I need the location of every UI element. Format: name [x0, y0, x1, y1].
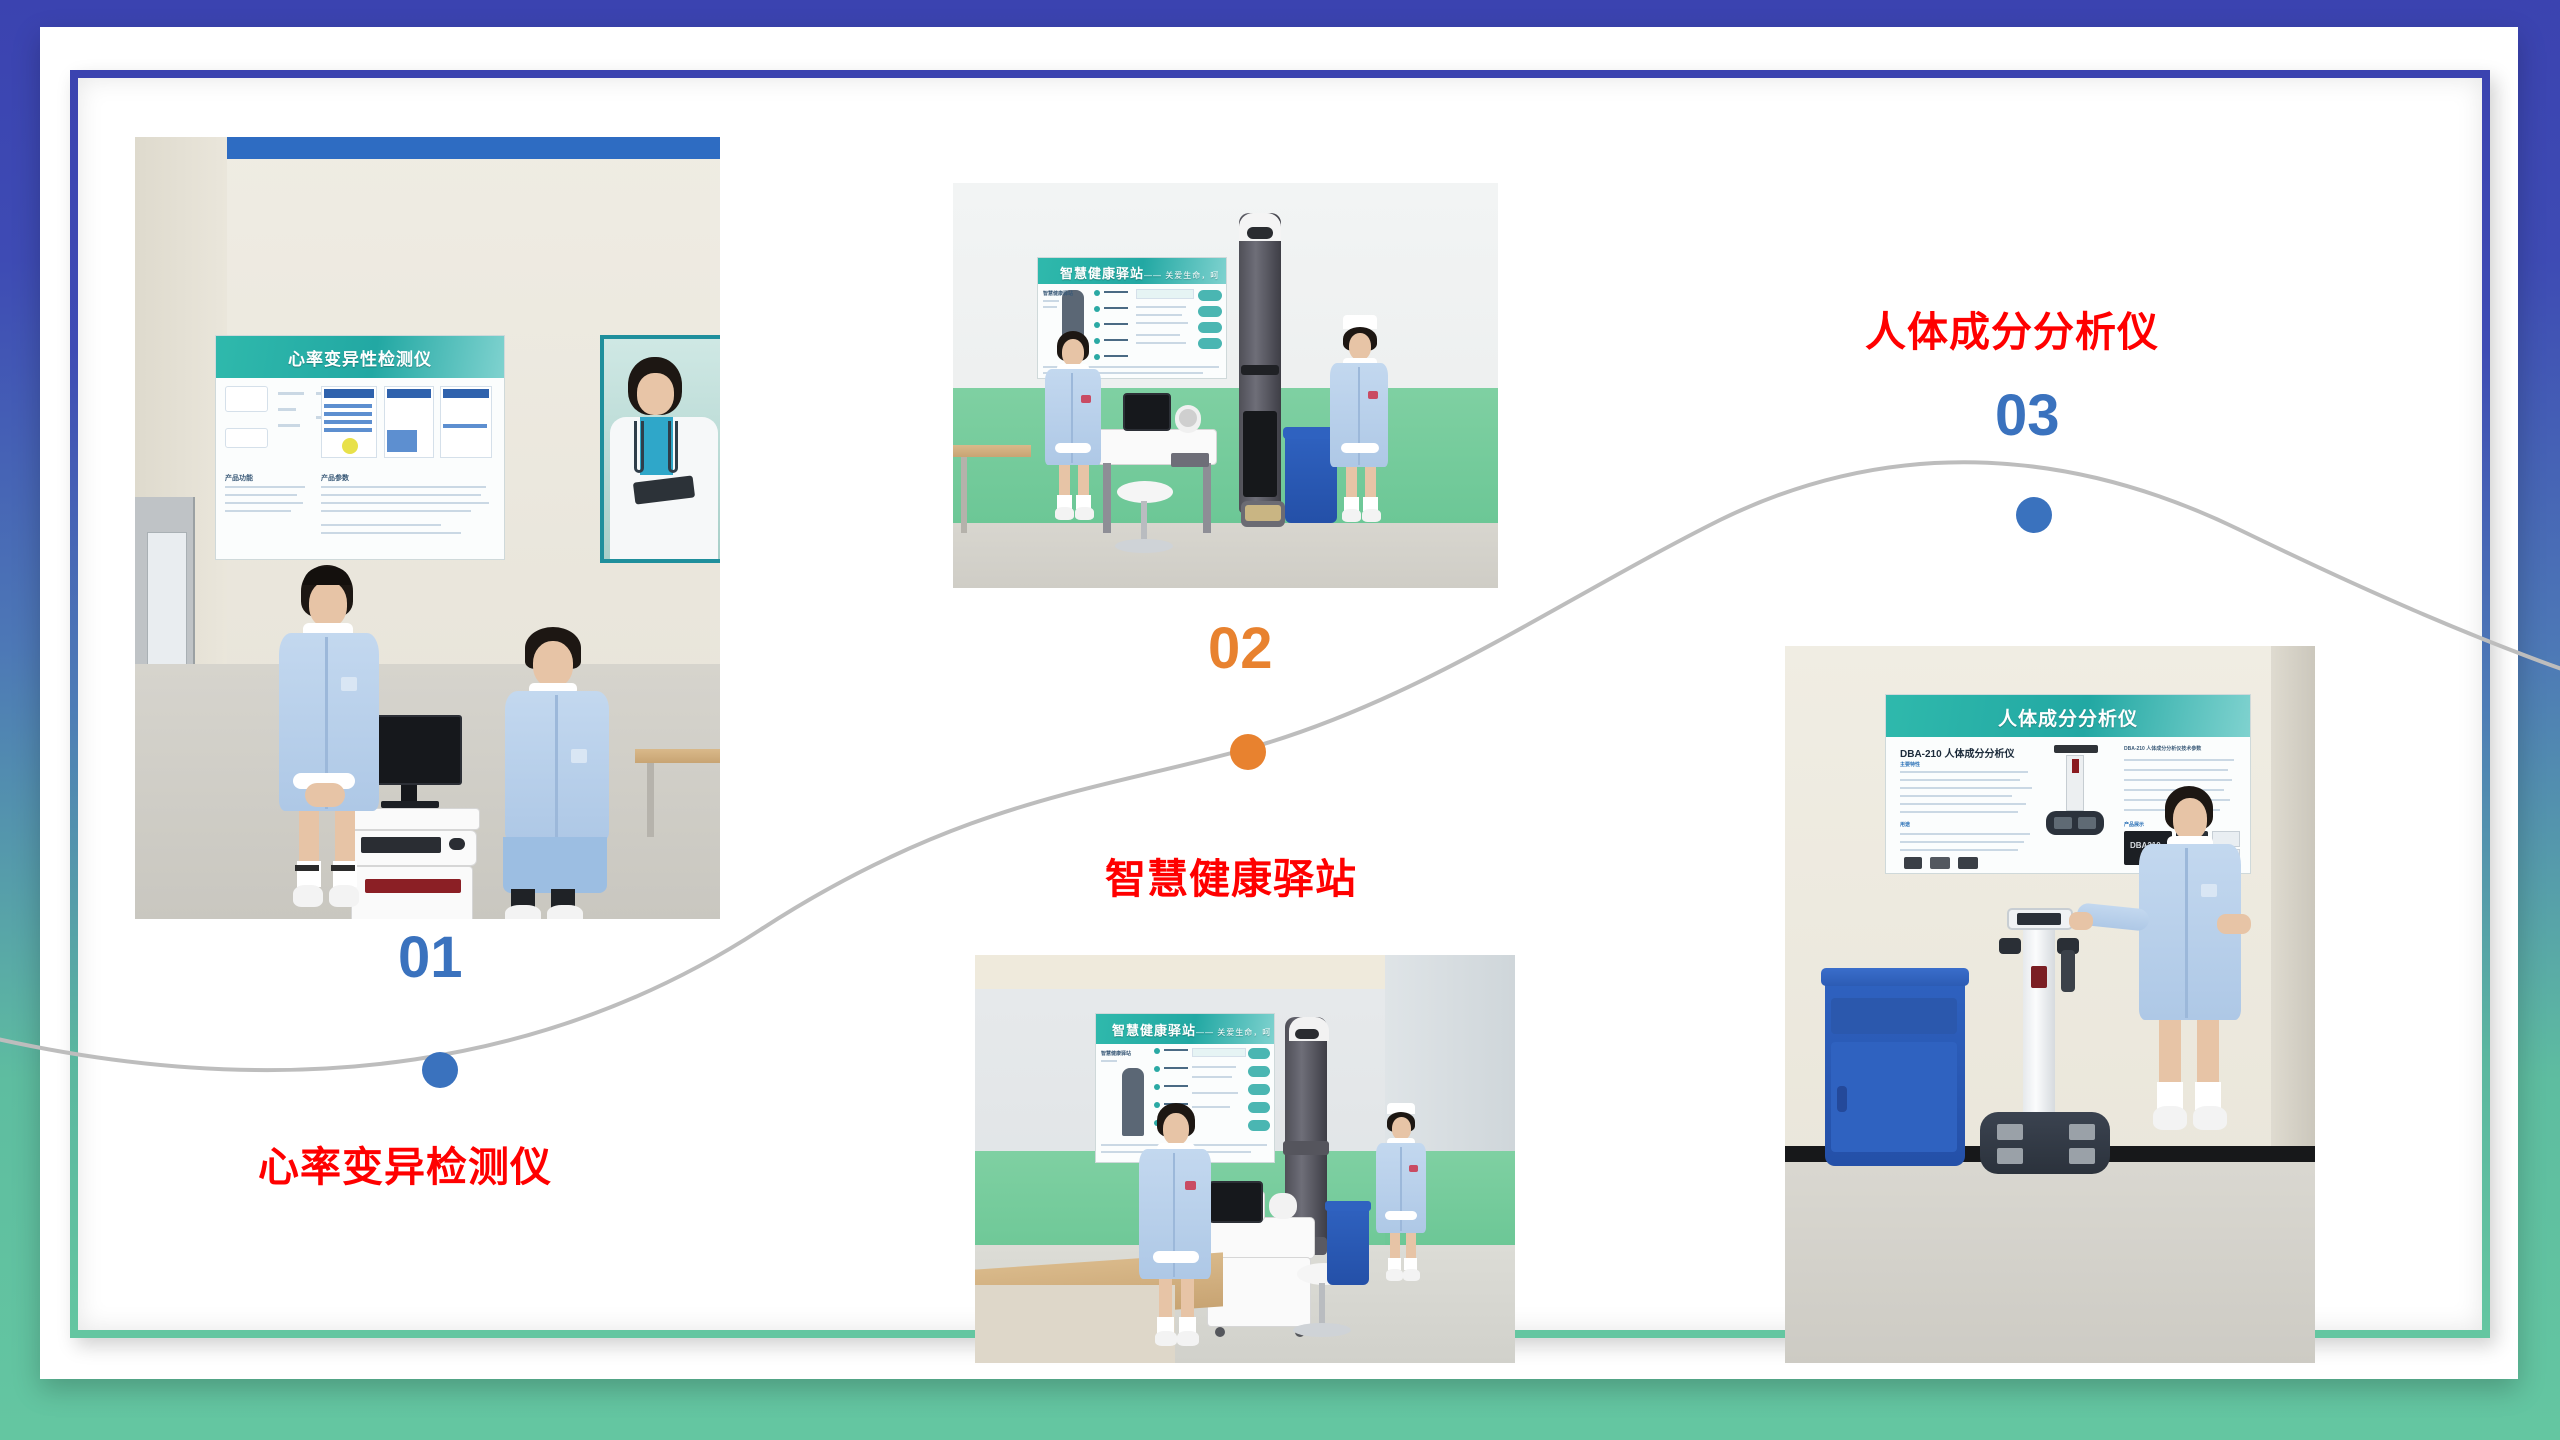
- timeline-dot-03[interactable]: [2016, 497, 2052, 533]
- timeline-dot-02[interactable]: [1230, 734, 1266, 770]
- timeline-title-02: 智慧健康驿站: [1105, 845, 1357, 905]
- timeline-title-03: 人体成分分析仪: [1865, 298, 2159, 358]
- timeline-number-01: 01: [398, 924, 463, 991]
- photo-health-station-top: 智慧健康驿站—— 关爱生命，呵护健康 智慧健康驿站: [953, 183, 1498, 588]
- photo-health-station-bottom: 智慧健康驿站—— 关爱生命，呵护健康 智慧健康驿站: [975, 955, 1515, 1363]
- timeline-title-01: 心率变异检测仪: [258, 1133, 552, 1193]
- timeline-number-03: 03: [1995, 382, 2060, 449]
- timeline-number-02: 02: [1208, 615, 1273, 682]
- photo-body-composition: 人体成分分析仪 DBA-210 人体成分分析仪 主要特性 用途: [1785, 646, 2315, 1363]
- timeline-dot-01[interactable]: [422, 1052, 458, 1088]
- photo-hrv-lab: 心率变异性检测仪: [135, 137, 720, 919]
